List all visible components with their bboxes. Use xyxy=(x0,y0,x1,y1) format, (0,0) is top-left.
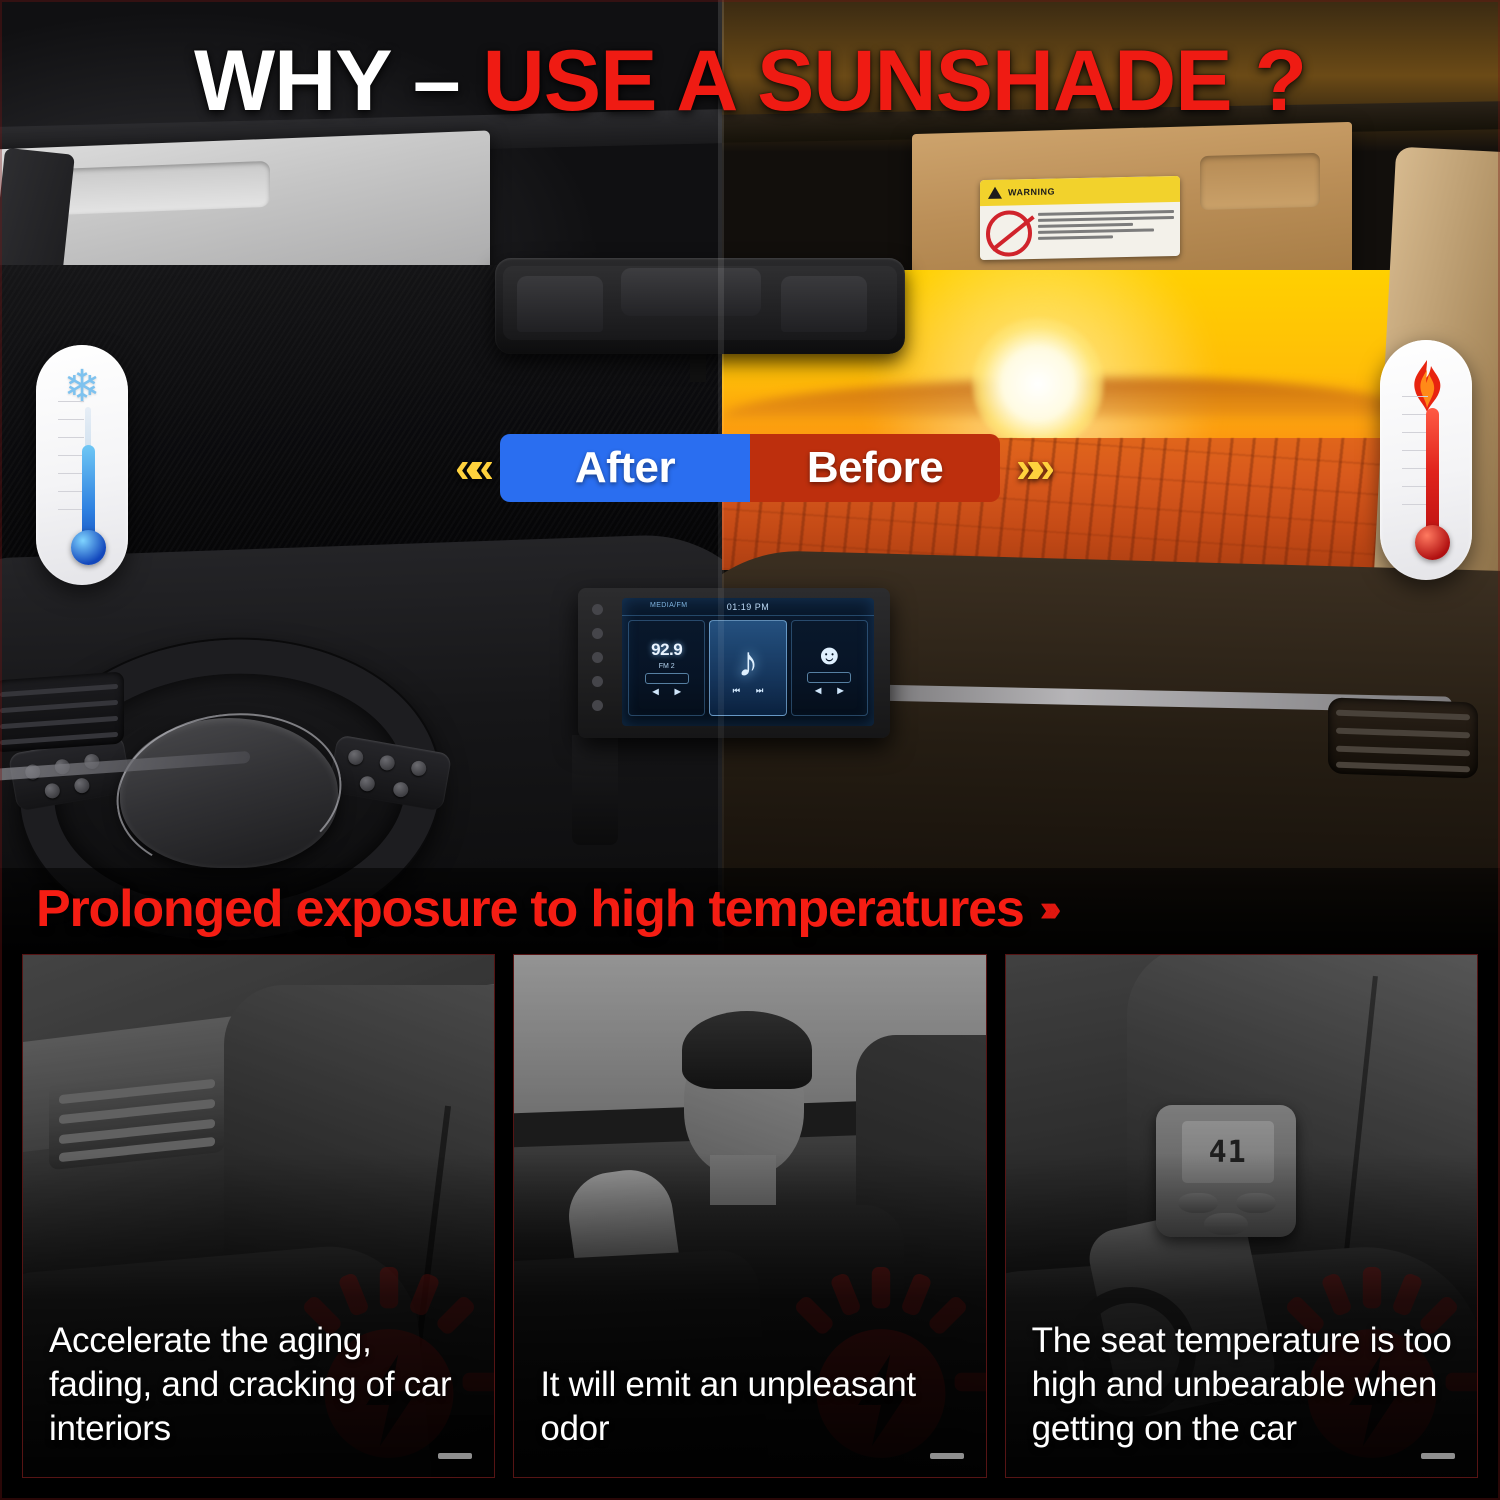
banner-arrows-icon: ››› xyxy=(1040,888,1054,931)
before-after-toggle: «« After Before »» xyxy=(0,434,1500,502)
left-air-vent xyxy=(0,671,124,752)
hot-thermometer-bulb xyxy=(1415,525,1450,560)
hot-seat-caption: The seat temperature is too high and unb… xyxy=(1032,1319,1459,1451)
infotainment-head-unit: MEDIA/FM 01:19 PM 92.9 FM 2 ◀ ▶ ♪ xyxy=(578,588,890,738)
music-note-icon: ♪ xyxy=(737,641,758,683)
radio-prev-icon[interactable]: ◀ xyxy=(653,687,659,696)
right-chevrons-icon: »» xyxy=(1000,446,1061,490)
screen-mount xyxy=(572,735,618,845)
warning-label-text-lines xyxy=(1038,207,1174,256)
volume-button-icon[interactable] xyxy=(592,652,603,663)
radio-preset-pill[interactable] xyxy=(645,673,689,684)
mirror-rear-seat-left xyxy=(517,276,603,332)
heat-warning-text: Prolonged exposure to high temperatures xyxy=(36,879,1024,939)
title-white-part: WHY – xyxy=(194,33,483,129)
media-rewind-icon[interactable]: ⏮ xyxy=(733,686,740,696)
right-air-vent xyxy=(1328,697,1478,778)
hero-comparison-image: WARNING xyxy=(0,0,1500,950)
power-button-icon[interactable] xyxy=(592,604,603,615)
cold-thermometer-bulb xyxy=(71,530,106,565)
mirror-rear-seat-right xyxy=(781,276,867,332)
infotainment-status-bar: MEDIA/FM 01:19 PM xyxy=(622,598,874,616)
media-controls[interactable]: ⏮ ⏭ xyxy=(733,686,763,696)
unpleasant-odor-caption: It will emit an unpleasant odor xyxy=(540,1363,967,1451)
radio-frequency: 92.9 xyxy=(651,640,682,660)
infotainment-source-label: MEDIA/FM xyxy=(650,602,687,609)
unpleasant-odor-card: It will emit an unpleasant odor xyxy=(513,954,986,1478)
consequence-cards: Accelerate the aging, fading, and cracki… xyxy=(0,950,1500,1500)
title-red-part: USE A SUNSHADE ? xyxy=(483,33,1306,129)
rearview-mirror xyxy=(495,258,905,354)
before-badge[interactable]: Before xyxy=(750,434,1000,502)
sun-icon xyxy=(972,318,1104,450)
radio-band: FM 2 xyxy=(659,663,675,670)
page-title: WHY – USE A SUNSHADE ? xyxy=(0,38,1500,124)
menu-button-icon[interactable] xyxy=(592,676,603,687)
interior-aging-card: Accelerate the aging, fading, and cracki… xyxy=(22,954,495,1478)
interior-aging-caption: Accelerate the aging, fading, and cracki… xyxy=(49,1319,476,1451)
phone-prev-icon[interactable]: ◀ xyxy=(815,686,821,695)
warning-triangle-icon xyxy=(988,187,1002,199)
warning-label-title: WARNING xyxy=(1008,187,1055,198)
mirror-rear-headrest xyxy=(621,268,761,316)
driver-profile-icon: ☻ xyxy=(815,641,844,669)
no-child-seat-icon xyxy=(986,210,1032,257)
radio-tile[interactable]: 92.9 FM 2 ◀ ▶ xyxy=(628,620,705,716)
after-badge[interactable]: After xyxy=(500,434,750,502)
radio-controls[interactable]: ◀ ▶ xyxy=(653,687,681,696)
eject-button-icon[interactable] xyxy=(592,700,603,711)
infotainment-screen[interactable]: MEDIA/FM 01:19 PM 92.9 FM 2 ◀ ▶ ♪ xyxy=(622,598,874,726)
card-dash-mark xyxy=(438,1453,472,1459)
infotainment-tiles: 92.9 FM 2 ◀ ▶ ♪ ⏮ ⏭ xyxy=(628,620,868,716)
phone-pill[interactable] xyxy=(807,672,851,683)
radio-next-icon[interactable]: ▶ xyxy=(675,687,681,696)
phone-controls[interactable]: ◀ ▶ xyxy=(815,686,843,695)
infotainment-clock: 01:19 PM xyxy=(727,602,770,612)
infotainment-side-buttons[interactable] xyxy=(592,604,603,711)
visor-warning-label: WARNING xyxy=(980,176,1180,260)
hot-seat-card: 41 The se xyxy=(1005,954,1478,1478)
card-dash-mark xyxy=(1421,1453,1455,1459)
left-chevrons-icon: «« xyxy=(439,446,500,490)
phone-next-icon[interactable]: ▶ xyxy=(837,686,843,695)
person-hair xyxy=(682,1011,812,1089)
home-button-icon[interactable] xyxy=(592,628,603,639)
warning-label-body xyxy=(980,202,1180,260)
phone-tile[interactable]: ☻ ◀ ▶ xyxy=(791,620,868,716)
card-dash-mark xyxy=(930,1453,964,1459)
media-forward-icon[interactable]: ⏭ xyxy=(756,686,763,696)
sunshade-infographic: WARNING xyxy=(0,0,1500,1500)
heat-warning-banner: Prolonged exposure to high temperatures … xyxy=(0,868,1500,950)
